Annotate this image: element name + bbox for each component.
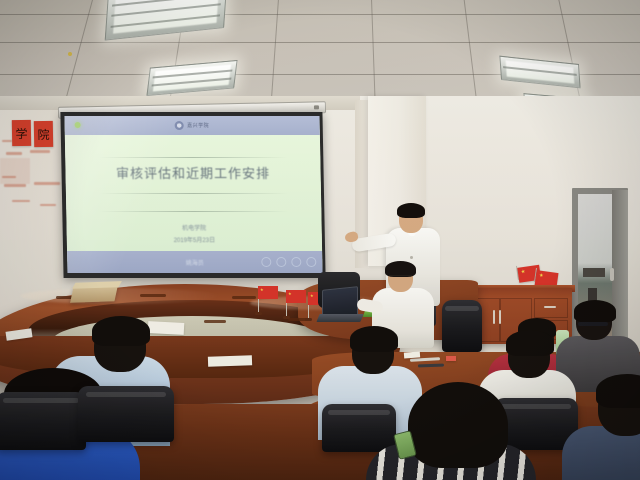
flag-star-icon: ★: [521, 270, 526, 276]
cabinet-knob[interactable]: [68, 52, 72, 56]
laptop-keyboard[interactable]: [316, 314, 363, 322]
paper-documents: [208, 355, 252, 367]
cabinet-handle[interactable]: [499, 310, 501, 324]
cardboard-box: [70, 285, 118, 303]
slide-header-band: 嘉兴学院: [64, 116, 319, 135]
slide-footer-band: 姚海员: [67, 251, 322, 273]
flag-star-icon: ★: [260, 288, 264, 292]
office-chair[interactable]: [322, 404, 396, 452]
circle-icon: [306, 257, 316, 267]
presentation-slide: 嘉兴学院 审核评估和近期工作安排 机电学院 2019年5月23日 姚海员: [64, 116, 322, 273]
flag-star-icon: ★: [539, 274, 544, 280]
door-handle[interactable]: [610, 268, 614, 281]
slide-title: 审核评估和近期工作安排: [65, 163, 320, 182]
wall-sign-character-2: 院: [34, 121, 53, 147]
cabinet-handle[interactable]: [493, 310, 495, 324]
slide-rule-middle: [99, 193, 288, 194]
slide-rule-bottom: [99, 211, 288, 212]
glasses-icon: [389, 275, 412, 281]
projection-screen: 嘉兴学院 审核评估和近期工作安排 机电学院 2019年5月23日 姚海员: [60, 112, 325, 278]
slide-subtitle-org: 机电学院: [67, 223, 322, 232]
circle-icon: [291, 257, 301, 267]
cabinet-drawer[interactable]: [534, 298, 568, 318]
box-lid: [72, 281, 122, 289]
flag-star-icon: ★: [288, 292, 292, 296]
roller-knob: [314, 105, 319, 109]
slide-org-name: 嘉兴学院: [187, 122, 209, 129]
adjacent-room-object: [583, 268, 605, 277]
office-chair[interactable]: [78, 386, 174, 442]
glasses-icon: [578, 322, 608, 326]
meeting-room-photo: 学 院 嘉兴学院 审核评估和近期工作安排 机电学院 2019年5月23日: [0, 0, 640, 480]
wall-sign-character-1: 学: [12, 120, 31, 146]
paper-documents: [148, 321, 185, 335]
presenter-hair: [397, 203, 425, 218]
paper-documents: [404, 351, 420, 358]
office-chair[interactable]: [0, 392, 86, 450]
circle-icon: [276, 257, 286, 267]
circle-icon: [261, 257, 271, 267]
slide-rule-top: [98, 157, 287, 158]
slide-subtitle-date: 2019年5月23日: [67, 235, 322, 244]
slide-body: 审核评估和近期工作安排 机电学院 2019年5月23日: [65, 135, 322, 251]
drawer-handle[interactable]: [544, 306, 556, 308]
red-card: [446, 356, 456, 361]
office-chair[interactable]: [442, 300, 482, 352]
screen-power-led-icon: [75, 122, 81, 128]
shirt-button: [410, 256, 413, 259]
flag-star-icon: ★: [310, 294, 314, 298]
university-crest-icon: [175, 121, 184, 130]
